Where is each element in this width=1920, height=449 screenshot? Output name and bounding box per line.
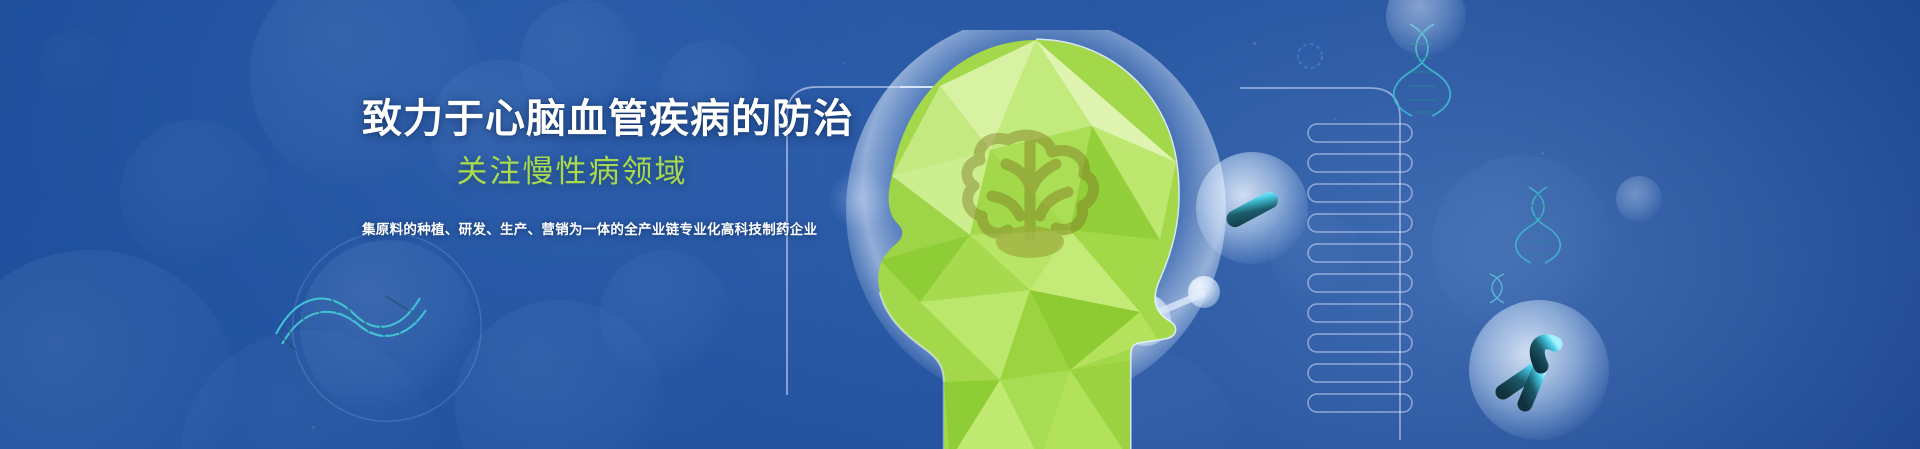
- bokeh-circle: [300, 240, 476, 416]
- bokeh-circle: [1432, 155, 1612, 335]
- headline-part1: 致力于: [362, 97, 485, 141]
- bokeh-circle: [600, 250, 730, 380]
- hero-banner: 致力于心脑血管疾病的防治 关注慢性病领域 集原料的种植、研发、生产、营销为一体的…: [0, 0, 1920, 449]
- headline-part2: 心脑血管疾病: [485, 97, 731, 141]
- dna-helix-top-right-icon: [1390, 20, 1454, 120]
- dna-helix-small-icon: [1482, 272, 1512, 306]
- headline-part3: 的防治: [731, 97, 854, 141]
- bokeh-circle: [292, 232, 482, 422]
- hud-button-list: [1306, 120, 1426, 420]
- banner-copy: 致力于心脑血管疾病的防治 关注慢性病领域 集原料的种植、研发、生产、营销为一体的…: [362, 96, 782, 241]
- headline: 致力于心脑血管疾病的防治: [362, 96, 782, 143]
- bokeh-circle: [0, 250, 240, 449]
- bokeh-circle: [120, 120, 270, 270]
- bacteria-cell-small: [1616, 176, 1662, 222]
- subline: 关注慢性病领域: [362, 153, 782, 190]
- dna-helix-mid-right-icon: [1515, 185, 1561, 265]
- description-text: 集原料的种植、研发、生产、营销为一体的全产业链专业化高科技制药企业: [362, 220, 782, 240]
- micro-ring-icon: [1290, 36, 1330, 76]
- low-poly-head-graphic: [840, 30, 1260, 449]
- dna-helix-left-icon: [268, 262, 433, 352]
- bokeh-circle: [455, 300, 665, 449]
- sparkle-dot: [1334, 118, 1336, 120]
- bacteria-cell-small: [1386, 0, 1466, 56]
- sparkle-dot: [312, 426, 315, 429]
- bokeh-circle: [40, 30, 110, 100]
- sparkle-dot: [1541, 152, 1544, 155]
- bokeh-circle: [180, 330, 440, 449]
- bacteria-cell-y: [1469, 300, 1609, 440]
